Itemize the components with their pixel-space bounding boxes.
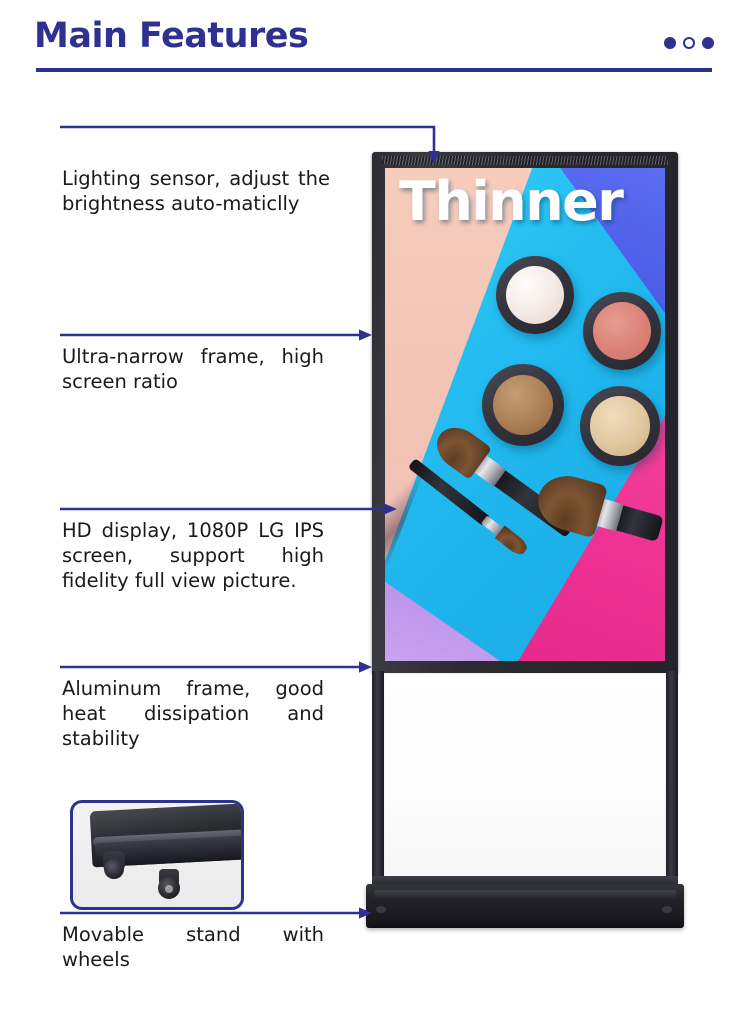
feature-caption-aluminum-frame: Aluminum frame, good heat dissipation an… [62,676,324,751]
compact-pan-gold [590,396,649,455]
compact-pan-rose [593,302,651,360]
base-plinth [366,876,684,932]
feature-caption-lighting-sensor: Lighting sensor, adjust the brightness a… [62,166,330,216]
lower-frame-panel [372,671,678,883]
feature-caption-ultra-narrow-frame: Ultra-narrow frame, high screen ratio [62,344,324,394]
page-dot-2-icon[interactable] [683,37,695,49]
brush-bristles [532,469,608,539]
compact-pan-pearl [506,266,564,324]
feature-caption-hd-display: HD display, 1080P LG IPS screen, support… [62,518,324,593]
thumbnail-caster-bolt [165,885,173,893]
page-dot-1-icon[interactable] [664,37,676,49]
display-screen: Thinner [385,168,665,661]
ad-headline: Thinner [399,174,622,231]
lower-panel-face [384,673,666,879]
thumbnail-caster-left-tire [104,859,124,879]
page-title: Main Features [34,19,308,54]
digital-signage-kiosk: Thinner [366,152,684,942]
title-underline-rule [36,68,712,72]
page-indicator-dots[interactable] [664,37,714,49]
aluminum-rail-right [666,671,678,883]
compact-pearl [496,256,574,334]
aluminum-rail-left [372,671,384,883]
compact-gold [580,386,660,466]
display-bezel: Thinner [372,152,678,674]
compact-rose [583,292,661,370]
page-dot-3-icon[interactable] [702,37,714,49]
feature-caption-movable-stand: Movable stand with wheels [62,922,324,972]
base-caster-right-icon [662,906,672,913]
page-header: Main Features [0,0,750,90]
movable-stand-thumbnail[interactable] [70,800,244,910]
base-caster-left-icon [376,906,386,913]
lighting-sensor-grille [382,156,668,165]
base-sheen [374,890,676,899]
